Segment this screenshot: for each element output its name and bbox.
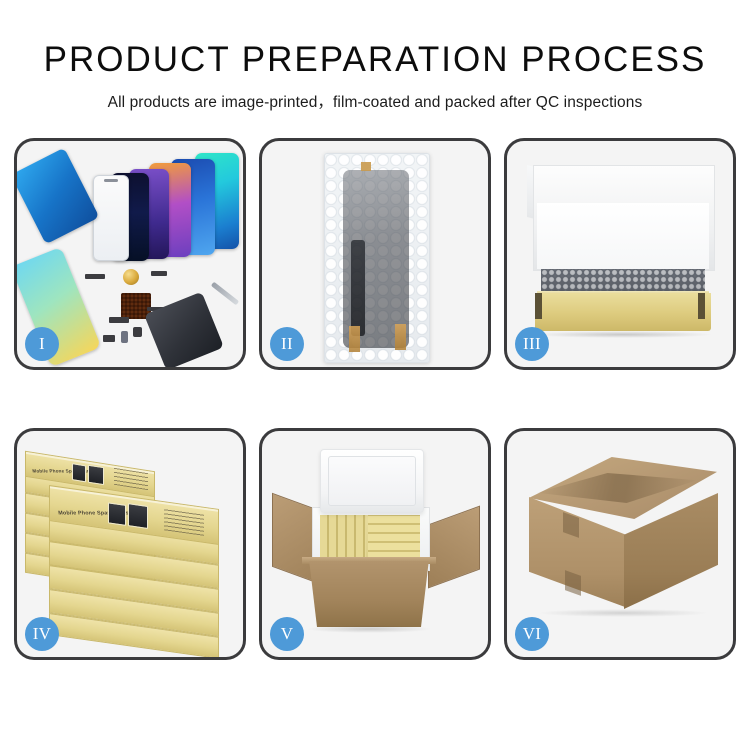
step-badge-6: VI <box>515 617 549 651</box>
box-corner-right-icon <box>698 293 705 319</box>
retail-box-back-window-2 <box>88 465 104 486</box>
box-corner-left-icon <box>535 293 542 319</box>
process-step-panel-2[interactable]: II <box>259 138 491 370</box>
camera-module-icon <box>123 269 139 285</box>
page-subtitle: All products are image-printed，film-coat… <box>0 90 750 112</box>
wrapped-flex-cable-icon <box>351 240 365 336</box>
foam-cooler-lid-icon <box>320 449 424 513</box>
part-chip-5-icon <box>103 335 115 342</box>
part-chip-4-icon <box>133 327 142 337</box>
phone-lcd-blue-icon <box>17 148 99 245</box>
part-chip-1-icon <box>85 274 105 279</box>
phone-back-housing-icon <box>144 292 224 367</box>
process-step-panel-5[interactable]: V <box>259 428 491 660</box>
carton-shadow <box>306 625 432 633</box>
part-chip-2-icon <box>151 271 167 276</box>
packed-boxes-left <box>320 515 366 559</box>
foam-pad-icon <box>537 203 709 269</box>
carton-flap-right-icon <box>428 506 480 589</box>
screen-protector-icon <box>93 175 129 261</box>
tape-strip-3-icon <box>361 162 371 171</box>
sealed-carton-shadow <box>537 609 709 617</box>
step-badge-4: IV <box>25 617 59 651</box>
foam-cooler-lid-inset <box>328 456 416 506</box>
retail-box-front-window-2 <box>128 503 148 529</box>
step-badge-3: III <box>515 327 549 361</box>
part-sim-tray-icon <box>121 331 128 343</box>
retail-box-back-window-1 <box>72 463 86 482</box>
step-badge-5: V <box>270 617 304 651</box>
page-title: PRODUCT PREPARATION PROCESS <box>0 40 750 80</box>
carton-body-icon <box>304 561 434 627</box>
retail-box-front-textblock <box>164 507 204 536</box>
part-chip-3-icon <box>109 317 129 323</box>
process-step-panel-3[interactable]: III <box>504 138 736 370</box>
page-header: PRODUCT PREPARATION PROCESS All products… <box>0 0 750 112</box>
tape-strip-1-icon <box>349 326 360 352</box>
retail-box-front-window-1 <box>108 502 126 526</box>
tweezers-icon <box>211 282 239 306</box>
step-badge-2: II <box>270 327 304 361</box>
process-step-panel-6[interactable]: VI <box>504 428 736 660</box>
process-step-panel-1[interactable]: I <box>14 138 246 370</box>
tape-strip-2-icon <box>395 324 406 350</box>
box-shadow <box>533 331 713 338</box>
packed-boxes-group <box>320 515 420 559</box>
bubble-wrap-bag-icon <box>324 153 430 363</box>
process-step-panel-4[interactable]: Mobile Phone Spare Parts Mobile Phone Sp… <box>14 428 246 660</box>
mailer-box-front-icon <box>535 293 711 331</box>
notch-icon <box>104 179 118 182</box>
process-step-grid: I II III <box>14 138 736 660</box>
packed-boxes-right <box>368 515 420 559</box>
step-badge-1: I <box>25 327 59 361</box>
